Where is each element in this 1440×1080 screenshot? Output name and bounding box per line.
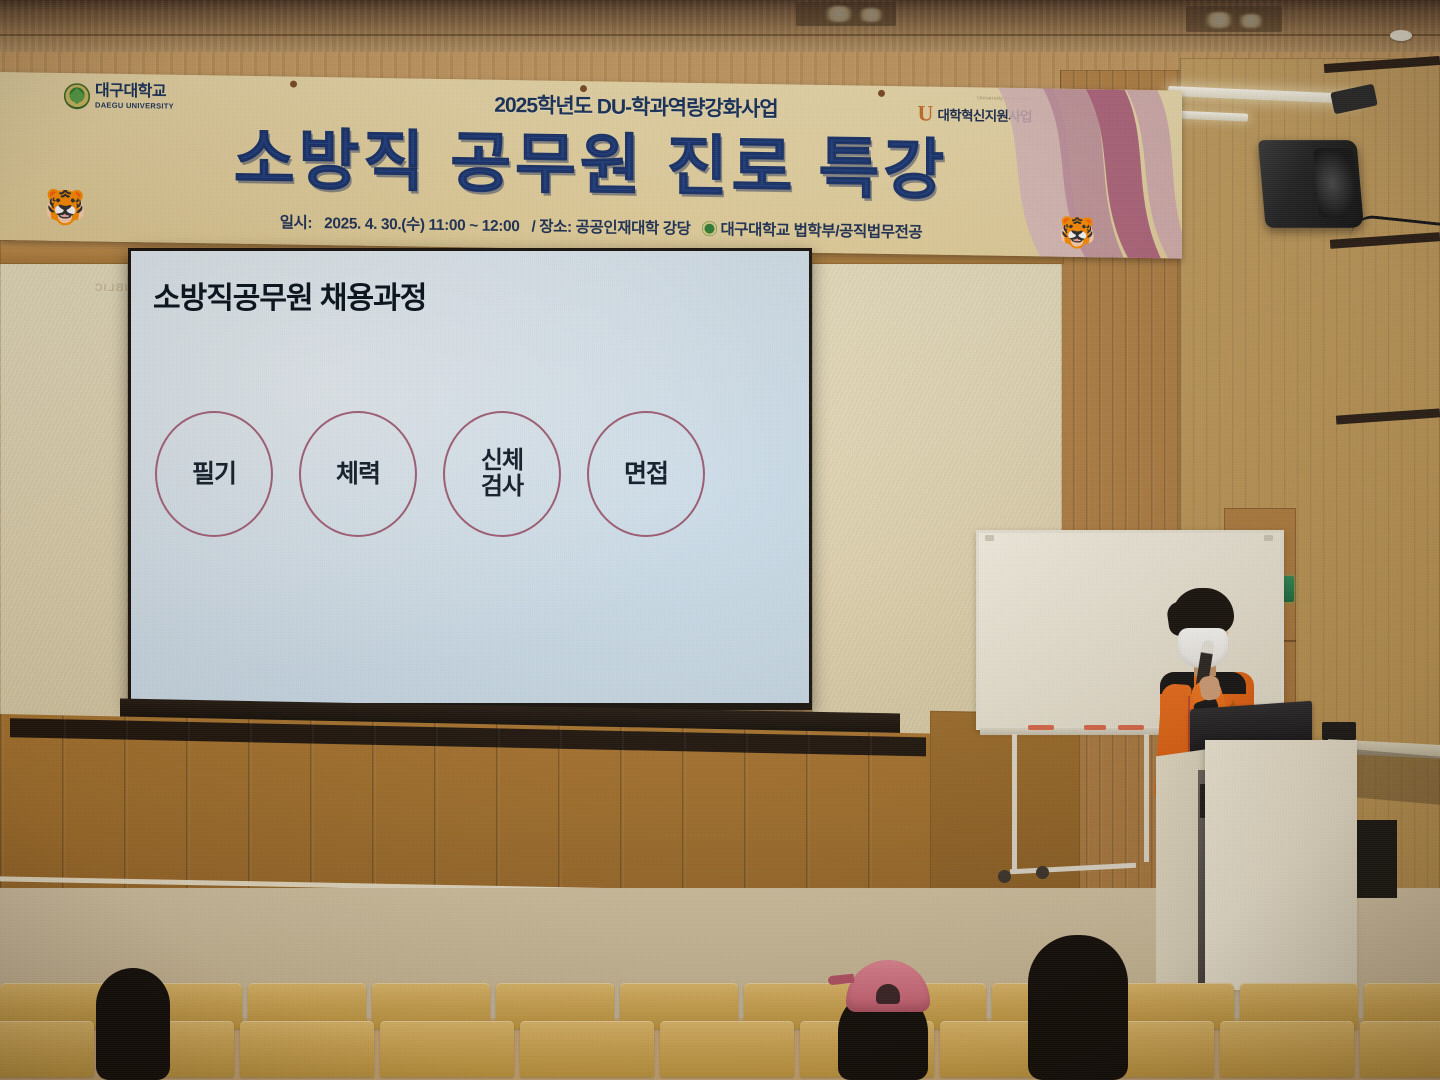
whiteboard-wheel (998, 870, 1011, 883)
seat-back[interactable] (660, 1021, 794, 1077)
process-step-2-label: 체력 (336, 461, 380, 488)
lectern-body (1205, 740, 1357, 990)
process-step-4-label: 면접 (624, 461, 668, 488)
slide-title: 소방직공무원 채용과정 (153, 273, 426, 317)
projection-screen: 소방직공무원 채용과정 필기 체력 신체 검사 면접 (128, 248, 812, 710)
audience-head-right (1028, 935, 1128, 1080)
tiger-mascot-icon-right: 🐯 (1059, 219, 1096, 250)
lecture-hall-photo: REPUBLIC 대구대학교 DAEGU UNIVERSITY 2025학년도 … (0, 0, 1440, 1080)
slide-surface: 소방직공무원 채용과정 필기 체력 신체 검사 면접 (131, 251, 809, 703)
process-step-4: 면접 (587, 411, 705, 537)
whiteboard-base-bar (1010, 863, 1136, 875)
cap-rear-opening (876, 984, 900, 1004)
banner-department: 대구대학교 법학부/공직법무전공 (720, 217, 922, 242)
seat-back[interactable] (380, 1021, 514, 1077)
wall-speaker-icon (1258, 140, 1364, 228)
whiteboard-clip (1264, 535, 1273, 541)
ceiling-seam (0, 34, 1440, 36)
innovation-u-icon: U (918, 102, 934, 124)
ceiling-light-housing (1186, 6, 1282, 32)
whiteboard-wheel (1036, 866, 1049, 879)
process-step-3-line2: 검사 (481, 473, 523, 500)
process-step-2: 체력 (299, 411, 417, 537)
seat-back[interactable] (520, 1021, 654, 1077)
slide-process-diagram: 필기 체력 신체 검사 면접 (155, 409, 795, 539)
banner-schedule-value: 2025. 4. 30.(수) 11:00 ~ 12:00 (324, 211, 519, 236)
process-step-1: 필기 (155, 411, 273, 537)
marker-icon[interactable] (1084, 725, 1106, 730)
audience-seating (0, 975, 1440, 1080)
process-step-1-label: 필기 (192, 461, 236, 488)
smoke-detector-icon (1390, 30, 1412, 41)
department-emblem-icon (702, 221, 717, 236)
seat-back[interactable] (1220, 1021, 1354, 1077)
whiteboard-leg (1144, 734, 1149, 862)
ceiling-light-housing (796, 2, 896, 26)
audience-head-left (96, 968, 170, 1080)
banner-schedule-label: 일시: (280, 210, 312, 233)
desk-device-box (1322, 722, 1356, 740)
tiger-mascot-icon-left: 🐯 (44, 191, 86, 226)
whiteboard-clip (985, 535, 994, 541)
whiteboard-leg (1012, 734, 1017, 874)
process-step-3: 신체 검사 (443, 411, 561, 537)
event-banner: 대구대학교 DAEGU UNIVERSITY 2025학년도 DU-학과역량강화… (0, 72, 1182, 259)
marker-icon[interactable] (1118, 725, 1144, 730)
process-step-3-line1: 신체 (481, 447, 523, 474)
seat-back[interactable] (240, 1021, 374, 1077)
seat-back[interactable] (1360, 1021, 1440, 1077)
marker-icon[interactable] (1028, 725, 1054, 730)
speaker-driver (1313, 148, 1359, 218)
seat-back[interactable] (0, 1021, 94, 1077)
banner-location: / 장소: 공공인재대학 강당 (531, 214, 690, 238)
